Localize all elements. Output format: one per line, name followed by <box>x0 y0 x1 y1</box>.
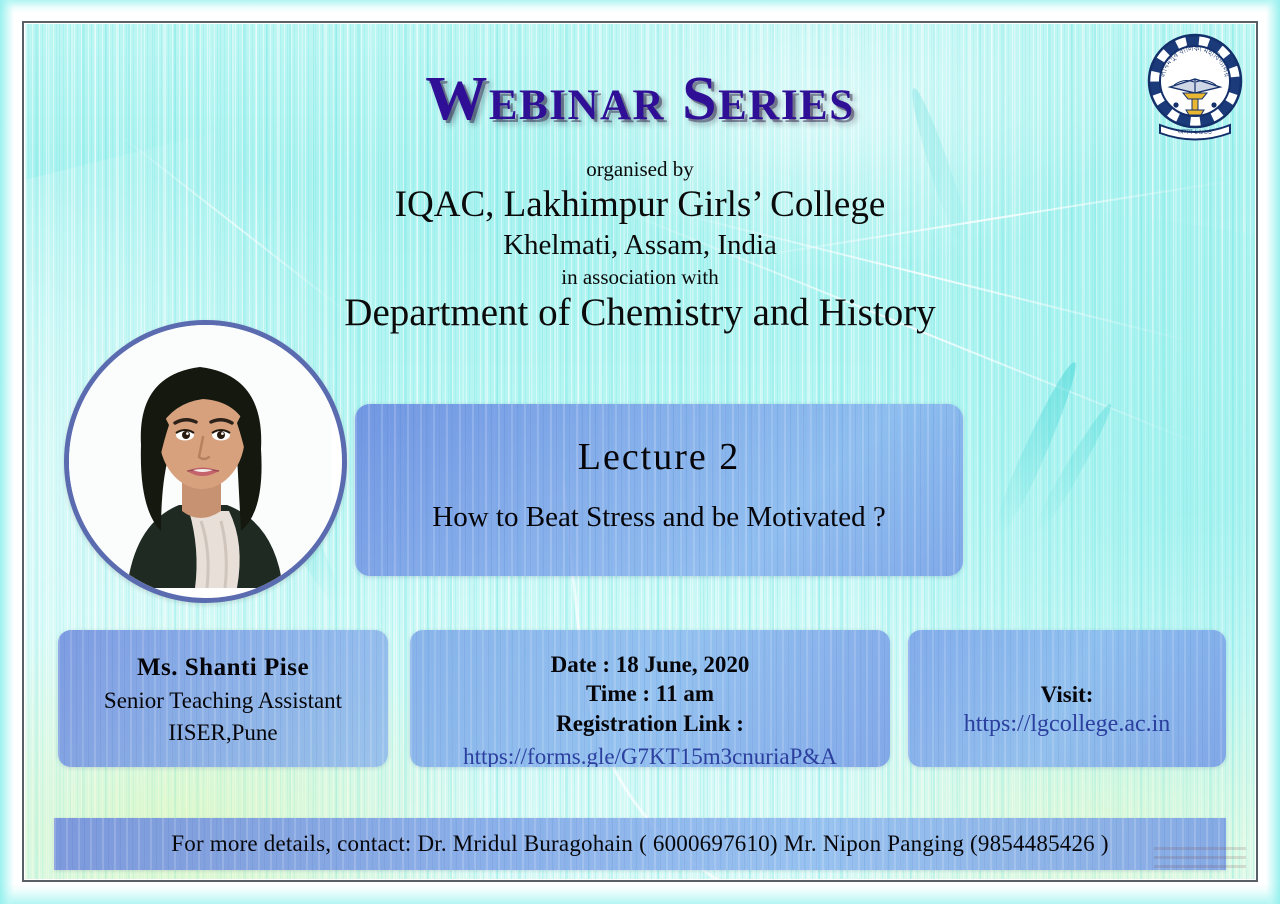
contact-bar: For more details, contact: Dr. Mridul Bu… <box>54 818 1226 870</box>
organiser-location: Khelmati, Assam, India <box>0 227 1280 263</box>
registration-label: Registration Link : <box>410 709 890 738</box>
lecture-topic: How to Beat Stress and be Motivated ? <box>355 501 963 534</box>
organiser-block: organised by IQAC, Lakhimpur Girls’ Coll… <box>0 156 1280 337</box>
schedule-panel: Date : 18 June, 2020 Time : 11 am Regist… <box>410 630 890 767</box>
organiser-name: IQAC, Lakhimpur Girls’ College <box>0 182 1280 227</box>
visit-content: Visit: https://lgcollege.ac.in <box>908 630 1226 738</box>
speaker-designation: Senior Teaching Assistant <box>58 687 388 714</box>
poster-title: Webinar Series <box>0 68 1280 130</box>
website-link[interactable]: https://lgcollege.ac.in <box>908 711 1226 738</box>
registration-link[interactable]: https://forms.gle/G7KT15m3cnuriaP&A <box>410 744 890 767</box>
lecture-panel-content: Lecture 2 How to Beat Stress and be Moti… <box>355 435 963 534</box>
logo-banner-text: অসম ১৯৬৪ <box>1177 129 1213 136</box>
speaker-info-panel: Ms. Shanti Pise Senior Teaching Assistan… <box>58 630 388 767</box>
visit-panel: Visit: https://lgcollege.ac.in <box>908 630 1226 767</box>
event-time: Time : 11 am <box>410 679 890 708</box>
contact-details: For more details, contact: Dr. Mridul Bu… <box>54 818 1226 870</box>
college-logo: লখিমপুৰ বালিকা মহাবিদ্যালয় অসম ১৯৬৪ <box>1138 27 1252 147</box>
event-date: Date : 18 June, 2020 <box>410 650 890 679</box>
college-emblem-icon: লখিমপুৰ বালিকা মহাবিদ্যালয় অসম ১৯৬৪ <box>1138 27 1252 147</box>
speaker-portrait-image <box>69 325 332 588</box>
visit-label: Visit: <box>908 682 1226 708</box>
organised-by-label: organised by <box>0 156 1280 182</box>
poster-content: Webinar Series organised by IQAC, Lakhim… <box>0 0 1280 904</box>
speaker-photo <box>64 320 347 603</box>
lecture-number: Lecture 2 <box>355 435 963 479</box>
speaker-affiliation: IISER,Pune <box>58 719 388 746</box>
webinar-poster: Webinar Series organised by IQAC, Lakhim… <box>0 0 1280 904</box>
schedule-content: Date : 18 June, 2020 Time : 11 am Regist… <box>410 630 890 767</box>
association-label: in association with <box>0 264 1280 290</box>
lecture-panel: Lecture 2 How to Beat Stress and be Moti… <box>355 404 963 576</box>
speaker-name: Ms. Shanti Pise <box>58 654 388 682</box>
background-watermark <box>1154 846 1246 868</box>
speaker-info-content: Ms. Shanti Pise Senior Teaching Assistan… <box>58 630 388 746</box>
